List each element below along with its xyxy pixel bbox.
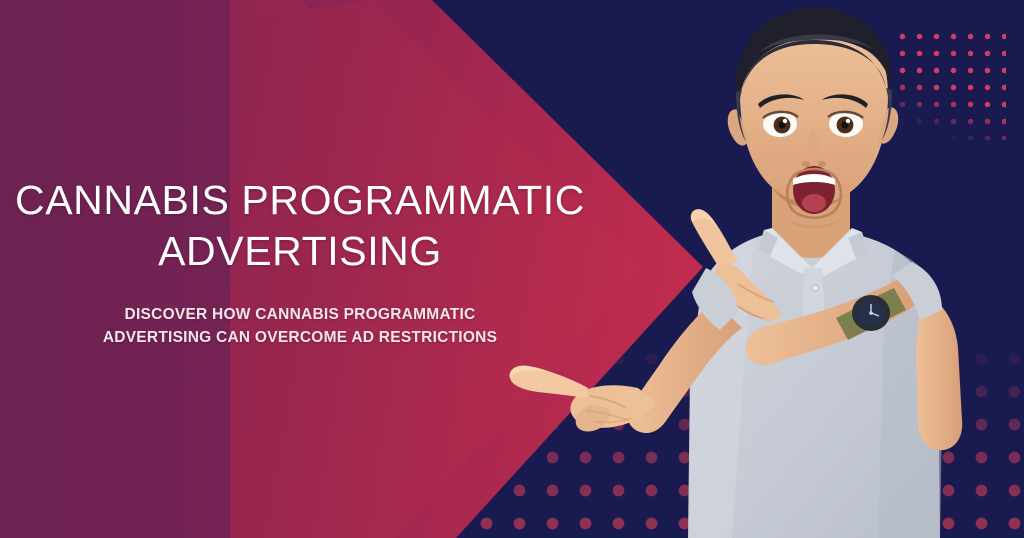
cannabis-programmatic-advertising-banner: CANNABIS PROGRAMMATIC ADVERTISING DISCOV… (0, 0, 1024, 538)
banner-copy: CANNABIS PROGRAMMATIC ADVERTISING DISCOV… (0, 175, 600, 349)
page-title: CANNABIS PROGRAMMATIC ADVERTISING (0, 175, 600, 277)
subheadline-line-2: ADVERTISING CAN OVERCOME AD RESTRICTIONS (103, 329, 497, 346)
subheadline-line-1: DISCOVER HOW CANNABIS PROGRAMMATIC (125, 306, 476, 323)
headline-line-1: CANNABIS PROGRAMMATIC (15, 177, 585, 223)
page-subtitle: DISCOVER HOW CANNABIS PROGRAMMATIC ADVER… (0, 303, 600, 349)
headline-line-2: ADVERTISING (158, 228, 442, 274)
